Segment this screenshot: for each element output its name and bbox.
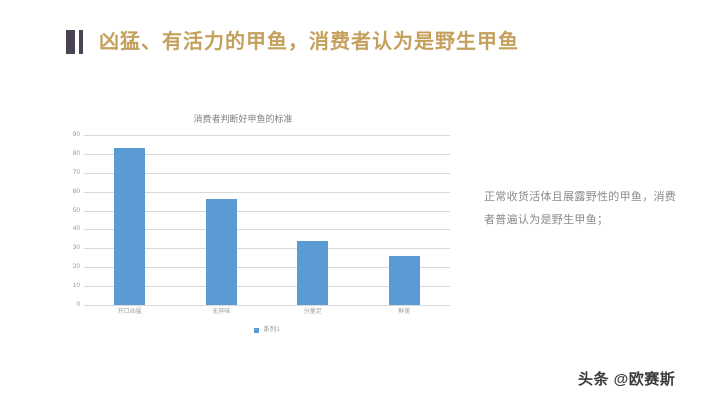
y-axis-tick: 40 bbox=[58, 226, 80, 233]
y-axis-tick: 30 bbox=[58, 245, 80, 252]
plot-area bbox=[84, 135, 450, 305]
y-axis-tick: 20 bbox=[58, 264, 80, 271]
title-marker bbox=[66, 30, 83, 54]
chart-legend: 系列1 bbox=[84, 327, 450, 334]
x-axis-tick: 开口凶猛 bbox=[84, 309, 176, 315]
marker-bar-thin-icon bbox=[79, 30, 83, 54]
chart-title: 消费者判断好甲鱼的标准 bbox=[78, 112, 408, 126]
marker-bar-wide-icon bbox=[66, 30, 75, 54]
x-axis-tick: 分量足 bbox=[267, 309, 359, 315]
bar-鲜美[interactable] bbox=[389, 256, 420, 305]
y-axis-tick: 10 bbox=[58, 283, 80, 290]
bar-分量足[interactable] bbox=[297, 241, 328, 305]
y-axis-tick: 50 bbox=[58, 207, 80, 214]
y-axis-tick: 80 bbox=[58, 151, 80, 158]
y-axis-tick: 0 bbox=[58, 302, 80, 309]
body-paragraph: 正常收货活体且展露野性的甲鱼，消费者普遍认为是野生甲鱼； bbox=[484, 186, 684, 231]
x-axis-tick: 无异味 bbox=[176, 309, 268, 315]
bar-slot bbox=[267, 135, 359, 305]
legend-swatch-series1 bbox=[254, 328, 259, 333]
bar-无异味[interactable] bbox=[206, 199, 237, 305]
y-axis-tick: 70 bbox=[58, 170, 80, 177]
bar-slot bbox=[84, 135, 176, 305]
x-axis: 开口凶猛无异味分量足鲜美 bbox=[84, 309, 450, 315]
chart-plot-wrapper: 9080706050403020100 开口凶猛无异味分量足鲜美 系列1 bbox=[58, 135, 458, 305]
gridline bbox=[84, 305, 450, 306]
bar-slot bbox=[359, 135, 451, 305]
page-title: 凶猛、有活力的甲鱼，消费者认为是野生甲鱼 bbox=[99, 32, 519, 52]
y-axis-tick: 90 bbox=[58, 132, 80, 139]
bar-chart: 消费者判断好甲鱼的标准 9080706050403020100 开口凶猛无异味分… bbox=[58, 112, 458, 344]
bar-开口凶猛[interactable] bbox=[114, 148, 145, 305]
x-axis-tick: 鲜美 bbox=[359, 309, 451, 315]
y-axis-tick: 60 bbox=[58, 188, 80, 195]
bars-layer bbox=[84, 135, 450, 305]
bar-slot bbox=[176, 135, 268, 305]
slide-header: 凶猛、有活力的甲鱼，消费者认为是野生甲鱼 bbox=[0, 22, 720, 62]
y-axis: 9080706050403020100 bbox=[58, 135, 80, 305]
legend-label-series1: 系列1 bbox=[263, 327, 280, 334]
watermark: 头条 @欧赛斯 bbox=[578, 368, 675, 389]
